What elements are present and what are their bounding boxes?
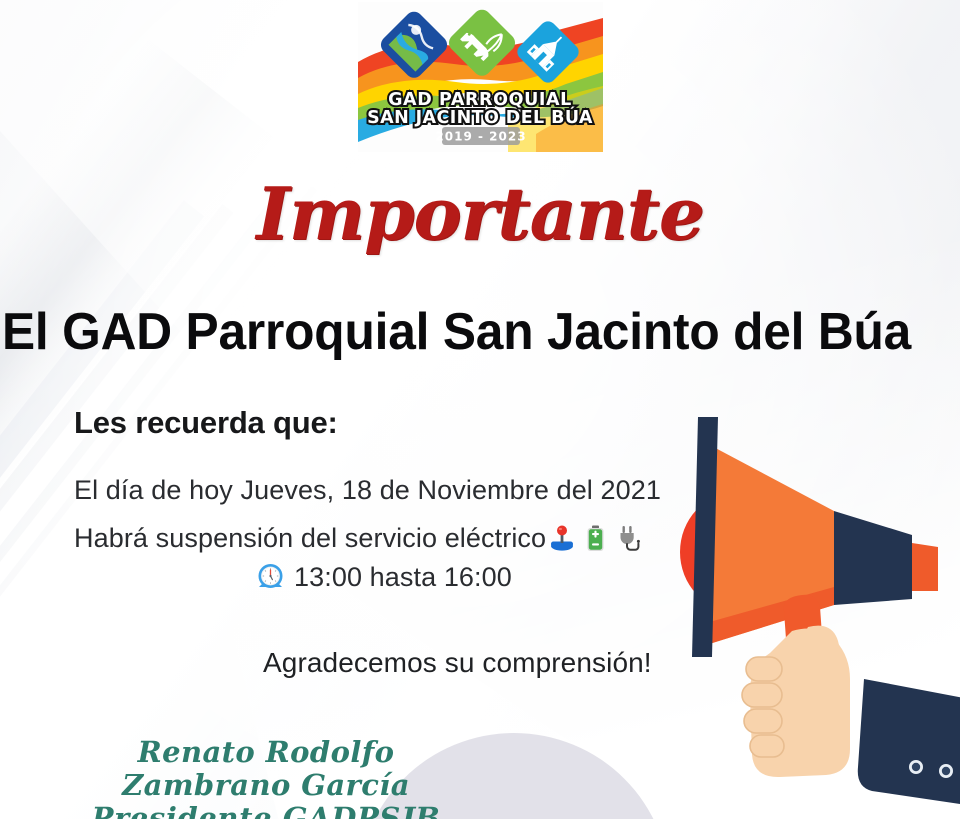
main-title: El GAD Parroquial San Jacinto del Búa [2,302,917,362]
signature-block: Renato Rodolfo Zambrano García President… [56,736,476,819]
logo-line-1: GAD PARROQUIAL [388,90,572,110]
signature-name: Renato Rodolfo Zambrano García [56,736,476,802]
poster-canvas: GAD PARROQUIAL SAN JACINTO DEL BÚA 2019 … [0,0,960,819]
page-title-importante: Importante [0,178,960,250]
alarm-clock-icon [255,562,286,593]
thanks-line: Agradecemos su comprensión! [263,644,652,682]
outage-line-row: Habrá suspensión del servicio eléctrico [74,519,644,557]
logo-term: 2019 - 2023 [435,130,526,144]
signature-role: Presidente GADPSJB [56,802,476,819]
time-line-row: 13:00 hasta 16:00 [255,558,512,596]
gad-parroquial-logo: GAD PARROQUIAL SAN JACINTO DEL BÚA 2019 … [358,2,603,152]
date-line: El día de hoy Jueves, 18 de Noviembre de… [74,471,661,509]
battery-icon [585,524,606,551]
logo-artwork: GAD PARROQUIAL SAN JACINTO DEL BÚA 2019 … [358,2,603,152]
hand-holding-megaphone [620,395,960,819]
subtitle: Les recuerda que: [74,403,338,443]
outage-line: Habrá suspensión del servicio eléctrico [74,523,546,553]
logo-card: GAD PARROQUIAL SAN JACINTO DEL BÚA 2019 … [358,2,603,152]
joystick-icon [548,524,576,551]
megaphone-artwork [620,395,960,819]
logo-line-2: SAN JACINTO DEL BÚA [367,106,593,128]
time-line: 13:00 hasta 16:00 [294,562,512,592]
